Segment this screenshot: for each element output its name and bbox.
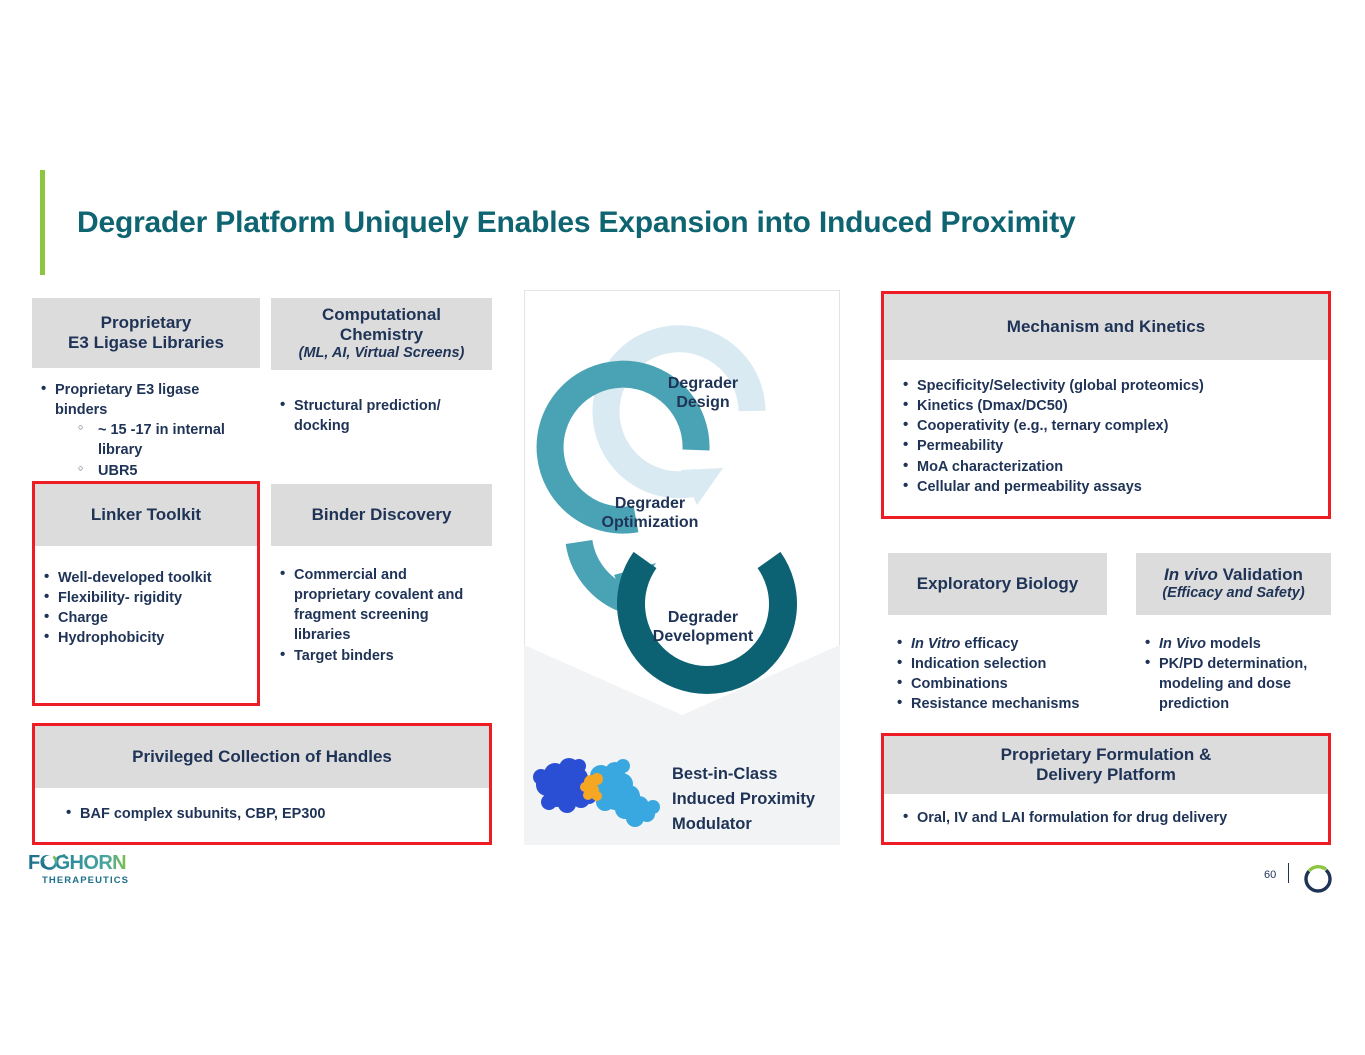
cycle-label-design: Degrader Design [613, 374, 793, 412]
list-item: Charge [41, 608, 251, 628]
list-item: Cooperativity (e.g., ternary complex) [900, 416, 1322, 436]
list-item: Combinations [894, 674, 1101, 694]
panel-binder-discovery: Binder Discovery Commercial and propriet… [271, 484, 492, 672]
list-item: Indication selection [894, 654, 1101, 674]
list-item: Proprietary E3 ligase binders [38, 380, 254, 420]
foghorn-logo: FOGHORN THERAPEUTICS [28, 852, 153, 888]
page-title-block: Degrader Platform Uniquely Enables Expan… [40, 170, 1290, 275]
list-item: BAF complex subunits, CBP, EP300 [63, 804, 483, 824]
bullet-list-formulation-delivery: Oral, IV and LAI formulation for drug de… [900, 808, 1322, 828]
list-item: Structural prediction/ docking [277, 396, 486, 436]
panel-header-formulation-delivery: Proprietary Formulation & Delivery Platf… [884, 736, 1328, 794]
cycle-label-line1: Degrader [668, 375, 738, 392]
best-in-class-label: Best-in-Class Induced Proximity Modulato… [672, 762, 847, 836]
sub-bullet-list-e3-ligase: ~ 15 -17 in internal library UBR5 [38, 420, 254, 480]
panel-header-binder-discovery: Binder Discovery [271, 484, 492, 546]
panel-body-in-vivo-validation: In Vivo models PK/PD determination, mode… [1136, 615, 1331, 721]
panel-body-e3-ligase: Proprietary E3 ligase binders ~ 15 -17 i… [32, 368, 260, 487]
bic-line1: Best-in-Class [672, 765, 777, 783]
bic-line3: Modulator [672, 815, 752, 833]
panel-formulation-delivery: Proprietary Formulation & Delivery Platf… [881, 733, 1331, 845]
panel-header-privileged-handles: Privileged Collection of Handles [35, 726, 489, 788]
panel-title-line1: Proprietary [101, 313, 192, 333]
panel-title-line2: Chemistry [340, 325, 423, 345]
panel-title: Privileged Collection of Handles [132, 747, 392, 767]
bullet-list-in-vivo-validation: In Vivo models PK/PD determination, mode… [1142, 634, 1325, 715]
bullet-list-privileged-handles: BAF complex subunits, CBP, EP300 [63, 804, 483, 824]
list-item: PK/PD determination, modeling and dose p… [1142, 654, 1325, 714]
panel-header-e3-ligase: Proprietary E3 Ligase Libraries [32, 298, 260, 368]
list-item: Hydrophobicity [41, 628, 251, 648]
cycle-label-line1: Degrader [668, 609, 738, 626]
panel-computational-chemistry: Computational Chemistry (ML, AI, Virtual… [271, 298, 492, 442]
panel-in-vivo-validation: In vivo Validation (Efficacy and Safety)… [1136, 553, 1331, 721]
panel-header-in-vivo-validation: In vivo Validation (Efficacy and Safety) [1136, 553, 1331, 615]
panel-title: In vivo Validation [1164, 565, 1303, 585]
bullet-list-binder-discovery: Commercial and proprietary covalent and … [277, 565, 486, 666]
panel-title: Linker Toolkit [91, 505, 201, 525]
panel-subtitle: (Efficacy and Safety) [1162, 585, 1304, 602]
list-item: ~ 15 -17 in internal library [78, 420, 254, 460]
panel-title-line2: E3 Ligase Libraries [68, 333, 224, 353]
brand-ring-icon [1301, 861, 1335, 895]
panel-title-line1: Computational [322, 305, 441, 325]
bullet-list-e3-ligase: Proprietary E3 ligase binders [38, 380, 254, 420]
list-item: Specificity/Selectivity (global proteomi… [900, 376, 1322, 396]
list-item: Oral, IV and LAI formulation for drug de… [900, 808, 1322, 828]
panel-header-mechanism-kinetics: Mechanism and Kinetics [884, 294, 1328, 360]
panel-title: Exploratory Biology [917, 574, 1079, 594]
panel-title-line2: Delivery Platform [1036, 765, 1176, 785]
bic-line2: Induced Proximity [672, 790, 815, 808]
cycle-label-line2: Optimization [602, 514, 699, 531]
panel-exploratory-biology: Exploratory Biology In Vitro efficacy In… [888, 553, 1107, 721]
list-item: In Vivo models [1142, 634, 1325, 654]
list-item: MoA characterization [900, 457, 1322, 477]
protein-complex-illustration [527, 752, 672, 837]
bullet-list-computational-chemistry: Structural prediction/ docking [277, 396, 486, 436]
cycle-label-line1: Degrader [615, 495, 685, 512]
list-item: Commercial and proprietary covalent and … [277, 565, 486, 646]
list-item: Flexibility- rigidity [41, 588, 251, 608]
panel-title: Mechanism and Kinetics [1007, 317, 1205, 337]
panel-title-rest: Validation [1218, 565, 1303, 584]
panel-body-computational-chemistry: Structural prediction/ docking [271, 370, 492, 442]
list-item: Target binders [277, 646, 486, 666]
panel-privileged-handles: Privileged Collection of Handles BAF com… [32, 723, 492, 845]
logo-tagline: THERAPEUTICS [42, 875, 129, 886]
list-item: UBR5 [78, 461, 254, 481]
panel-body-mechanism-kinetics: Specificity/Selectivity (global proteomi… [884, 360, 1328, 503]
panel-e3-ligase-libraries: Proprietary E3 Ligase Libraries Propriet… [32, 298, 260, 487]
title-accent-bar [40, 170, 45, 275]
bullet-list-mechanism-kinetics: Specificity/Selectivity (global proteomi… [900, 376, 1322, 497]
page-title: Degrader Platform Uniquely Enables Expan… [77, 206, 1075, 240]
panel-subtitle: (ML, AI, Virtual Screens) [299, 345, 465, 362]
page-number: 60 [1264, 869, 1276, 881]
panel-title-italic: In vivo [1164, 565, 1218, 584]
cycle-label-line2: Design [676, 394, 729, 411]
panel-title-line1: Proprietary Formulation & [1001, 745, 1212, 765]
panel-header-exploratory-biology: Exploratory Biology [888, 553, 1107, 615]
panel-body-formulation-delivery: Oral, IV and LAI formulation for drug de… [884, 794, 1328, 834]
footer-divider [1288, 863, 1289, 883]
panel-mechanism-kinetics: Mechanism and Kinetics Specificity/Selec… [881, 291, 1331, 519]
bullet-list-linker-toolkit: Well-developed toolkit Flexibility- rigi… [41, 568, 251, 649]
list-item: Kinetics (Dmax/DC50) [900, 396, 1322, 416]
list-item: Well-developed toolkit [41, 568, 251, 588]
panel-body-linker-toolkit: Well-developed toolkit Flexibility- rigi… [35, 546, 257, 655]
bullet-list-exploratory-biology: In Vitro efficacy Indication selection C… [894, 634, 1101, 715]
panel-linker-toolkit: Linker Toolkit Well-developed toolkit Fl… [32, 481, 260, 706]
cycle-label-optimization: Degrader Optimization [560, 494, 740, 532]
list-item: Cellular and permeability assays [900, 477, 1322, 497]
panel-header-computational-chemistry: Computational Chemistry (ML, AI, Virtual… [271, 298, 492, 370]
cycle-label-line2: Development [653, 628, 753, 645]
panel-body-binder-discovery: Commercial and proprietary covalent and … [271, 546, 492, 672]
list-item: Permeability [900, 436, 1322, 456]
list-item: Resistance mechanisms [894, 694, 1101, 714]
list-item: In Vitro efficacy [894, 634, 1101, 654]
panel-body-privileged-handles: BAF complex subunits, CBP, EP300 [35, 788, 489, 830]
panel-title: Binder Discovery [312, 505, 452, 525]
panel-header-linker-toolkit: Linker Toolkit [35, 484, 257, 546]
cycle-label-development: Degrader Development [613, 608, 793, 646]
panel-body-exploratory-biology: In Vitro efficacy Indication selection C… [888, 615, 1107, 721]
